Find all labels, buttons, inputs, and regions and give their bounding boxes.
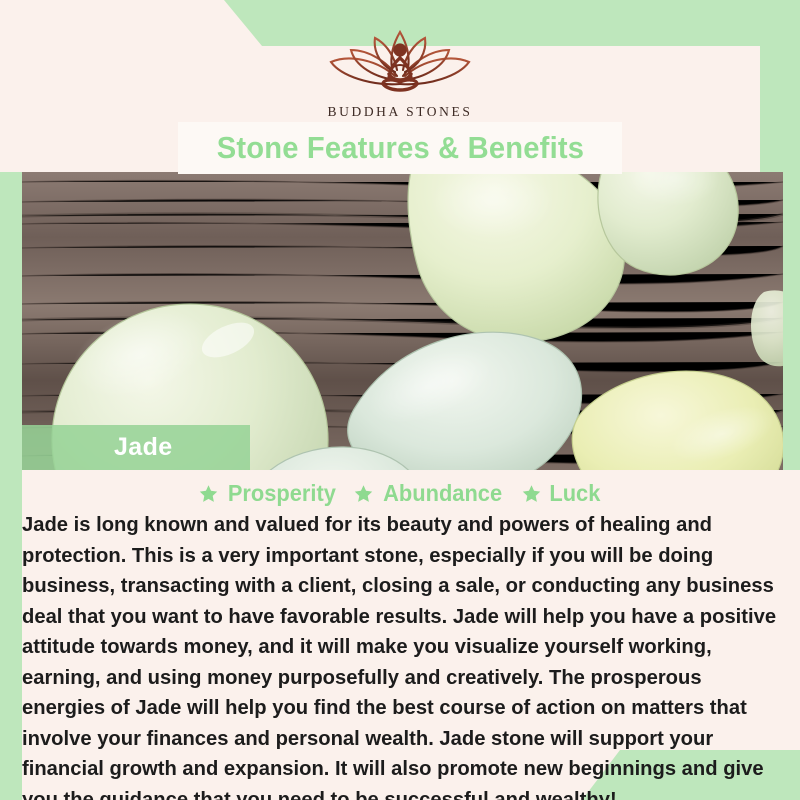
keyword-label: Abundance xyxy=(384,480,503,507)
keyword-label: Prosperity xyxy=(228,480,336,507)
star-icon xyxy=(199,484,218,503)
brand-logo: BUDDHA STONES xyxy=(0,24,800,120)
title-banner: Stone Features & Benefits xyxy=(178,122,622,174)
keyword-item-prosperity: Prosperity xyxy=(199,480,339,507)
keyword-item-luck: Luck xyxy=(522,480,602,507)
keyword-label: Luck xyxy=(549,480,600,507)
keyword-list: Prosperity Abundance Luck xyxy=(0,480,800,507)
brand-name: BUDDHA STONES xyxy=(328,104,473,120)
star-icon xyxy=(354,484,373,503)
stone-description: Jade is long known and valued for its be… xyxy=(22,510,780,800)
star-icon xyxy=(522,484,541,503)
infographic-page: BUDDHA STONES Stone Features & Benefits xyxy=(0,0,800,800)
lotus-meditation-icon xyxy=(325,24,475,98)
keyword-item-abundance: Abundance xyxy=(354,480,505,507)
stone-name-label: Jade xyxy=(114,433,173,462)
stone-name-banner: Jade xyxy=(22,425,250,470)
page-title: Stone Features & Benefits xyxy=(216,130,583,166)
